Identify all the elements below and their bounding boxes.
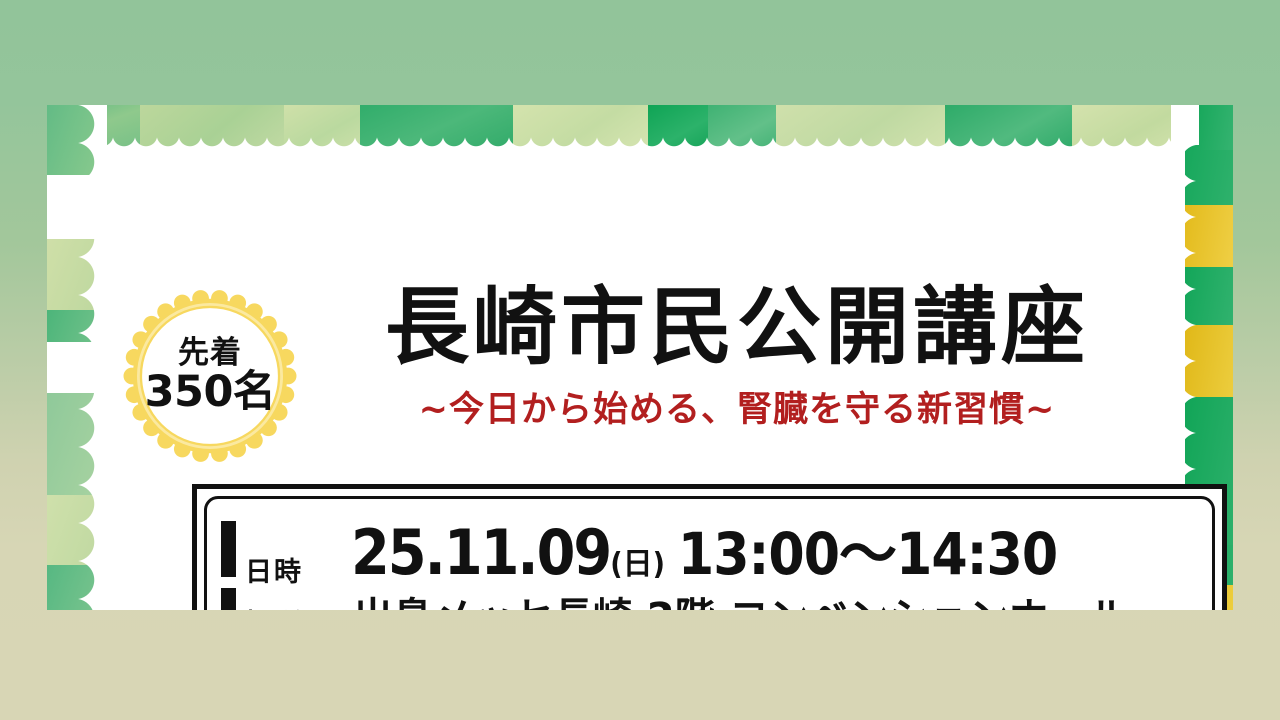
date-dayofweek-text: (日) — [610, 539, 665, 583]
page-title: 長崎市民公開講座 — [337, 283, 1137, 371]
poster-canvas: 先着 350名 長崎市民公開講座 ~今日から始める、腎臓を守る新習慣~ 日時 2… — [0, 0, 1280, 720]
badge-first-line: 先着 — [178, 337, 242, 370]
top-scallop-edge-secondary — [47, 149, 1233, 169]
date-time-text: 13:00〜14:30 — [678, 507, 1057, 591]
place-value: 出島メッセ長崎 2階 コンベンションホール — [353, 585, 1129, 610]
place-label: 場所 — [245, 602, 325, 610]
bar-marker-icon — [221, 521, 236, 577]
left-scallop-edge — [75, 105, 107, 610]
date-value: 25.11.09 (日) 13:00〜14:30 — [351, 507, 1057, 591]
date-main-text: 25.11.09 — [351, 516, 610, 589]
capacity-badge: 先着 350名 — [117, 283, 303, 469]
page-subtitle: ~今日から始める、腎臓を守る新習慣~ — [337, 381, 1137, 432]
badge-second-line: 350名 — [145, 371, 276, 415]
headline-group: 長崎市民公開講座 ~今日から始める、腎臓を守る新習慣~ — [337, 283, 1137, 432]
right-corner-notch — [1171, 105, 1199, 145]
event-details-box: 日時 25.11.09 (日) 13:00〜14:30 場所 出島メッセ長崎 2… — [192, 484, 1227, 610]
flyer-card: 先着 350名 長崎市民公開講座 ~今日から始める、腎臓を守る新習慣~ 日時 2… — [47, 105, 1233, 610]
bar-marker-icon — [221, 588, 236, 610]
event-place-row: 場所 出島メッセ長崎 2階 コンベンションホール — [221, 585, 1129, 610]
badge-text-group: 先着 350名 — [117, 283, 303, 469]
event-date-row: 日時 25.11.09 (日) 13:00〜14:30 — [221, 507, 1057, 591]
